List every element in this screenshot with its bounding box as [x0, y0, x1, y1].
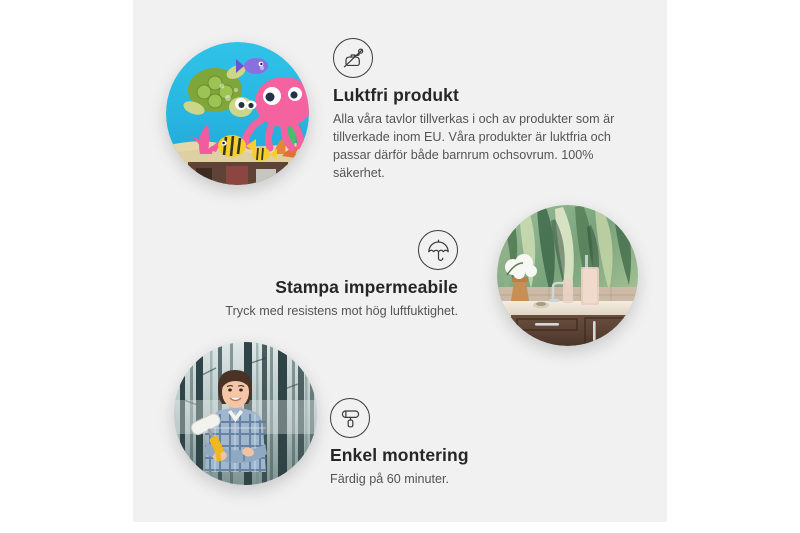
- woman-with-paint-roller-photo: [174, 342, 317, 485]
- feature-title-odourless: Luktfri produkt: [333, 85, 633, 106]
- infographic-stage: Luktfri produkt Alla våra tavlor tillver…: [0, 0, 800, 533]
- feature-desc-odourless: Alla våra tavlor tillverkas i och av pro…: [333, 111, 633, 183]
- umbrella-icon: [418, 230, 458, 270]
- feature-waterproof: Stampa impermeabile Tryck med resistens …: [158, 230, 458, 321]
- feature-desc-assembly: Färdig på 60 minuter.: [330, 471, 630, 489]
- underwater-cartoon-scene-photo: [166, 42, 309, 185]
- feature-title-assembly: Enkel montering: [330, 445, 630, 466]
- feature-odourless: Luktfri produkt Alla våra tavlor tillver…: [333, 38, 633, 183]
- paint-roller-icon: [330, 398, 370, 438]
- feature-title-waterproof: Stampa impermeabile: [158, 277, 458, 298]
- feature-icon-wrap-assembly: [330, 419, 370, 436]
- bathroom-tropical-wallpaper-photo: [497, 205, 638, 346]
- feature-assembly: Enkel montering Färdig på 60 minuter.: [330, 398, 630, 489]
- feature-desc-waterproof: Tryck med resistens mot hög luftfuktighe…: [158, 303, 458, 321]
- no-odour-spray-bottle-icon: [333, 38, 373, 78]
- feature-icon-wrap-waterproof: [158, 230, 458, 270]
- feature-icon-wrap-odourless: [333, 59, 373, 76]
